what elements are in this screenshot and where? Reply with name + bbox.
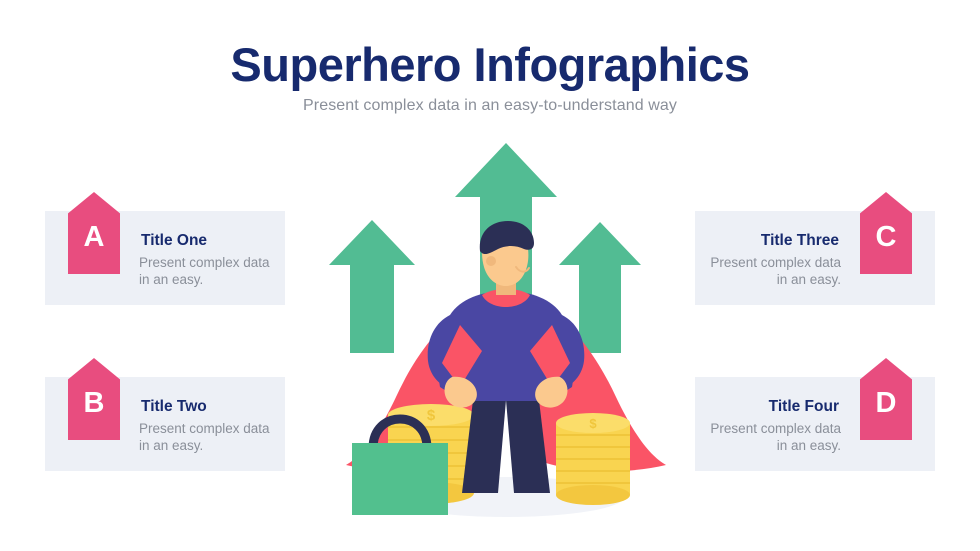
card-b-title: Title Two [139,398,275,415]
info-card-d[interactable]: D Title Four Present complex data in an … [695,377,935,471]
svg-text:$: $ [589,416,597,431]
header: Superhero Infographics Present complex d… [0,40,980,115]
badge-letter-a: A [68,192,120,274]
card-c-title: Title Three [705,232,841,249]
ear [486,256,496,266]
badge-letter-b: B [68,358,120,440]
card-c-description: Present complex data in an easy. [705,254,841,289]
card-a-text: Title One Present complex data in an eas… [139,232,275,289]
card-d-text: Title Four Present complex data in an ea… [705,398,841,455]
info-card-a[interactable]: A Title One Present complex data in an e… [45,211,285,305]
card-b-description: Present complex data in an easy. [139,420,275,455]
badge-letter-d: D [860,358,912,440]
card-b-text: Title Two Present complex data in an eas… [139,398,275,455]
superhero-illustration: $ $ [310,125,690,525]
card-a-description: Present complex data in an easy. [139,254,275,289]
card-d-description: Present complex data in an easy. [705,420,841,455]
info-card-c[interactable]: C Title Three Present complex data in an… [695,211,935,305]
card-d-title: Title Four [705,398,841,415]
coin-dollar-symbol: $ [427,407,436,424]
coin-stack-right: $ [556,413,630,505]
bag-body [352,443,448,515]
slide-canvas: Superhero Infographics Present complex d… [0,0,980,551]
page-title: Superhero Infographics [0,40,980,91]
card-a-title: Title One [139,232,275,249]
arrow-up-left-icon [329,220,415,353]
info-card-b[interactable]: B Title Two Present complex data in an e… [45,377,285,471]
page-subtitle: Present complex data in an easy-to-under… [0,97,980,115]
card-c-text: Title Three Present complex data in an e… [705,232,841,289]
badge-letter-c: C [860,192,912,274]
